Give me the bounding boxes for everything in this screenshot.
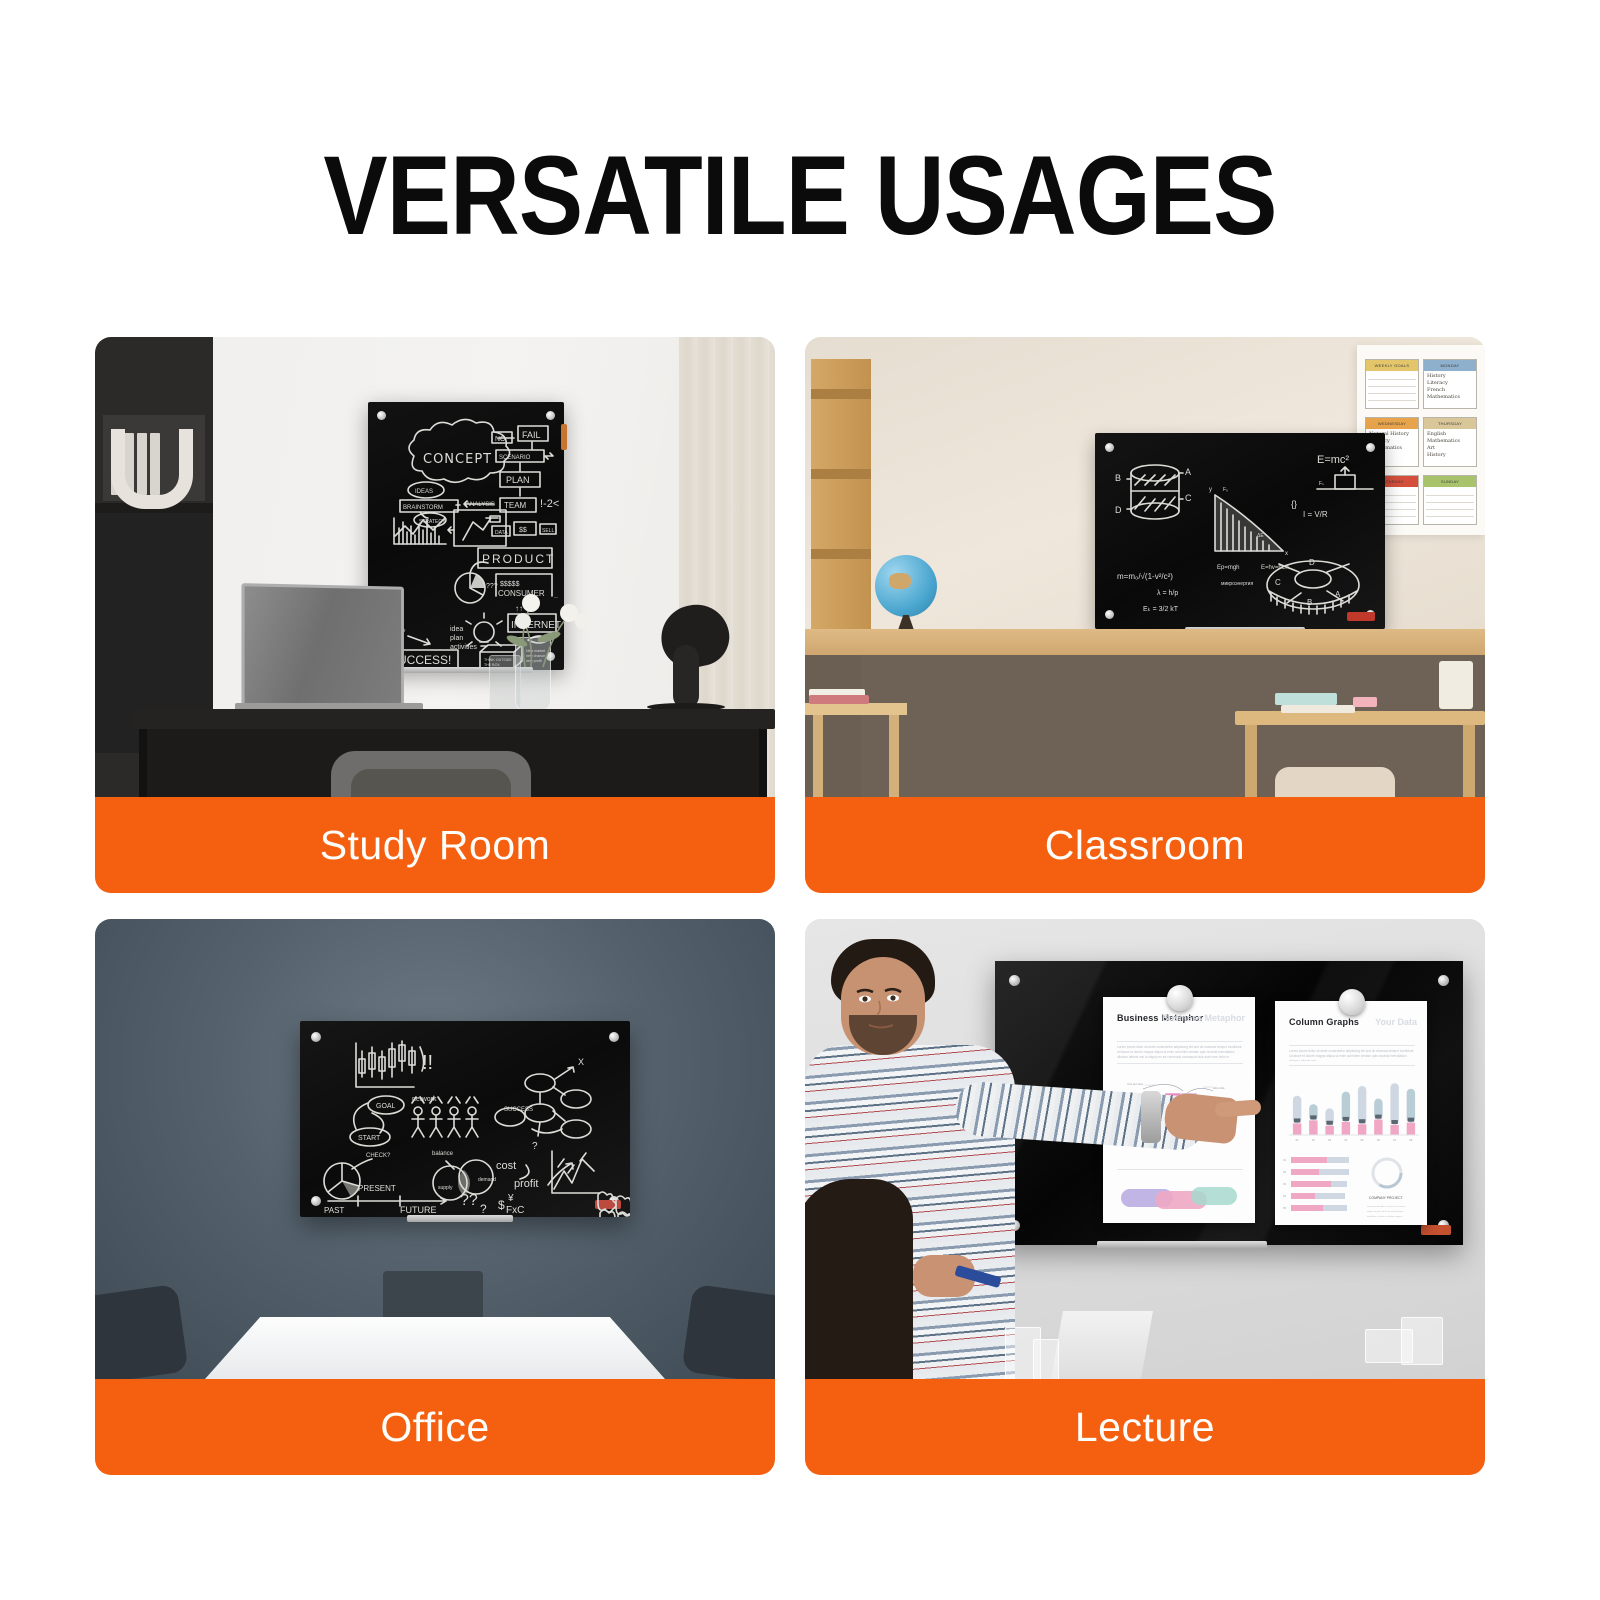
svg-text:!-2<: !-2< xyxy=(540,498,559,510)
svg-text:?: ? xyxy=(532,1141,538,1152)
desk-top xyxy=(131,709,775,729)
flowers xyxy=(465,579,615,669)
usage-banner-study-room: Study Room xyxy=(95,797,775,893)
office-chair-seat xyxy=(351,769,511,797)
svg-text:$: $ xyxy=(498,1198,505,1212)
svg-text:plan: plan xyxy=(450,635,463,642)
cabinet-door[interactable] xyxy=(981,655,1103,797)
svg-text:adipiscing elit sed do eiusmod: adipiscing elit sed do eiusmod tempor xyxy=(1367,1210,1404,1213)
column-chart: 0102030405060708 xyxy=(1275,1073,1427,1149)
planner-heading: SUNDAY xyxy=(1424,476,1476,487)
small-desk-leg xyxy=(813,715,823,797)
cabinet-door[interactable] xyxy=(1101,655,1223,797)
svg-text:03: 03 xyxy=(1328,1138,1331,1142)
office-photo: !! GOAL START network xyxy=(95,919,775,1379)
cabinet-door[interactable] xyxy=(861,655,983,797)
laptop-screen xyxy=(241,583,404,715)
svg-text:incididunt ut labore et dolore: incididunt ut labore et dolore magna. xyxy=(1367,1215,1403,1218)
svg-text:B: B xyxy=(1115,473,1121,483)
svg-text:ΔE: ΔE xyxy=(1257,533,1264,539)
small-desk-top xyxy=(805,703,907,715)
usage-card-classroom[interactable]: WEEKLY GOALS MONDAY HistoryLiteracyFrenc… xyxy=(805,337,1485,893)
svg-text:08: 08 xyxy=(1409,1138,1412,1142)
presenter-face xyxy=(843,981,933,1031)
svg-text:X: X xyxy=(578,1057,584,1067)
wristwatch xyxy=(1141,1091,1161,1143)
svg-text:$$: $$ xyxy=(519,527,527,534)
svg-text:Eₖ = 3/2 kT: Eₖ = 3/2 kT xyxy=(1143,606,1179,613)
svg-text:GOAL: GOAL xyxy=(376,1103,396,1110)
small-desk-leg xyxy=(889,715,899,797)
sheet-body-text: Lorem ipsum dolor sit amet consectetur a… xyxy=(1117,1045,1243,1059)
planner-heading: MONDAY xyxy=(1424,360,1476,371)
infographic-sheet-column-graphs[interactable]: Column Graphs Your Data Lorem ipsum dolo… xyxy=(1275,1001,1427,1225)
svg-text:микроэнергия: микроэнергия xyxy=(1221,581,1253,587)
conference-chair-right xyxy=(681,1284,775,1379)
usage-card-study-room[interactable]: CONCEPT NO FAIL SCENARIO PLAN TEAM !-2< … xyxy=(95,337,775,893)
svg-text:x: x xyxy=(1285,551,1288,557)
sheet-body-text: Lorem ipsum dolor sit amet consectetur a… xyxy=(1289,1049,1415,1061)
svg-text:FUTURE: FUTURE xyxy=(400,1205,437,1215)
usage-label: Study Room xyxy=(320,822,551,869)
svg-text:A: A xyxy=(1335,590,1341,599)
sheet-title: Column Graphs xyxy=(1289,1017,1359,1028)
sheet-footer-bars xyxy=(1103,1177,1255,1221)
conference-table xyxy=(205,1317,665,1379)
svg-text:07: 07 xyxy=(1393,1138,1396,1142)
student-chair xyxy=(1275,767,1395,797)
planner-lines xyxy=(1368,373,1416,406)
svg-text:CONCEPT: CONCEPT xyxy=(423,452,492,467)
svg-text:01: 01 xyxy=(1283,1158,1286,1162)
board-sketch: A B C D y x F₀ ΔE Ep=mgh E=hv=hc/λ xyxy=(1095,433,1385,629)
drinking-glass xyxy=(1033,1339,1059,1379)
svg-text:supply: supply xyxy=(438,1185,453,1191)
svg-text:ANALYSIS: ANALYSIS xyxy=(466,502,495,508)
mount-stud-icon xyxy=(1438,975,1449,986)
marker-tray xyxy=(407,1215,513,1222)
svg-text:?: ? xyxy=(480,1202,487,1216)
round-magnet-icon[interactable] xyxy=(1167,985,1193,1011)
student-desk-leg xyxy=(1463,725,1475,797)
svg-text:04: 04 xyxy=(1283,1194,1286,1198)
planner-heading: WEEKLY GOALS xyxy=(1366,360,1418,371)
laptop xyxy=(1051,1311,1153,1379)
svg-text:m=m₀/√(1-v²/c²): m=m₀/√(1-v²/c²) xyxy=(1117,572,1173,581)
svg-text:demand: demand xyxy=(478,1177,496,1183)
sideboard-top xyxy=(805,629,1485,655)
seated-listener-hair xyxy=(805,1179,913,1379)
pointing-finger xyxy=(1215,1099,1262,1117)
svg-text:λ = h/p: λ = h/p xyxy=(1157,590,1178,597)
svg-text:Lorem ipsum dolor sit amet con: Lorem ipsum dolor sit amet consectetur xyxy=(1367,1205,1406,1208)
notebook xyxy=(1281,705,1355,713)
svg-text:START: START xyxy=(358,1135,381,1142)
svg-text:Fₙ: Fₙ xyxy=(1319,481,1324,487)
board-sketch: !! GOAL START network xyxy=(300,1021,630,1217)
svg-text:D: D xyxy=(1115,505,1122,515)
sheet-ghost-title: Your Data xyxy=(1375,1017,1417,1028)
planner-entries: EnglishMathematicsArtHistory xyxy=(1427,431,1474,459)
svg-text:C: C xyxy=(1185,493,1192,503)
svg-text:02: 02 xyxy=(1312,1138,1315,1142)
svg-text:F₀: F₀ xyxy=(1223,487,1228,493)
lecture-photo: Business Metaphor Business Metaphor Lore… xyxy=(805,919,1485,1379)
glass-whiteboard-landscape[interactable]: !! GOAL START network xyxy=(300,1021,630,1217)
svg-text:y: y xyxy=(1209,487,1212,493)
study-room-photo: CONCEPT NO FAIL SCENARIO PLAN TEAM !-2< … xyxy=(95,337,775,797)
svg-text:05: 05 xyxy=(1283,1206,1286,1210)
usage-banner-office: Office xyxy=(95,1379,775,1475)
svg-text:idea: idea xyxy=(450,626,463,633)
svg-text:NO: NO xyxy=(495,436,506,443)
conference-chair-center xyxy=(383,1271,483,1323)
svg-text:E=mc²: E=mc² xyxy=(1317,454,1349,466)
svg-text:??: ?? xyxy=(460,1192,478,1209)
notebook xyxy=(1275,693,1337,705)
classroom-photo: WEEKLY GOALS MONDAY HistoryLiteracyFrenc… xyxy=(805,337,1485,797)
board-accent-clip xyxy=(1421,1225,1451,1235)
round-magnet-icon[interactable] xyxy=(1339,989,1365,1015)
student-desk-leg xyxy=(1245,725,1257,797)
usage-card-lecture[interactable]: Business Metaphor Business Metaphor Lore… xyxy=(805,919,1485,1475)
usage-card-office[interactable]: !! GOAL START network xyxy=(95,919,775,1475)
marker-tray xyxy=(1097,1241,1267,1249)
svg-text:PAST: PAST xyxy=(324,1206,344,1215)
notebook xyxy=(809,695,869,704)
svg-text:PRESENT: PRESENT xyxy=(358,1184,396,1193)
svg-text:02: 02 xyxy=(1283,1170,1286,1174)
presenter-hand xyxy=(1163,1091,1239,1144)
usage-label: Office xyxy=(380,1404,489,1451)
glass-whiteboard-landscape[interactable]: A B C D y x F₀ ΔE Ep=mgh E=hv=hc/λ xyxy=(1095,433,1385,629)
svg-text:SCENARIO: SCENARIO xyxy=(499,455,531,461)
svg-text:04: 04 xyxy=(1344,1138,1347,1142)
usage-banner-classroom: Classroom xyxy=(805,797,1485,893)
svg-text:PRODUCT: PRODUCT xyxy=(482,552,555,566)
svg-text:CHECK?: CHECK? xyxy=(366,1153,391,1159)
svg-text:SELL: SELL xyxy=(542,528,554,534)
svg-text:TEAM: TEAM xyxy=(504,501,527,510)
desk-leg xyxy=(759,729,767,797)
svg-text:A: A xyxy=(1185,467,1191,477)
eraser xyxy=(1353,697,1377,707)
svg-text:¥: ¥ xyxy=(507,1193,514,1204)
usage-banner-lecture: Lecture xyxy=(805,1379,1485,1475)
paper-roll xyxy=(1439,661,1473,709)
sheet-horizontal-bars: 0102030405 COMPANY PROJECT Lorem ipsum d… xyxy=(1275,1151,1427,1221)
svg-text:Add a title: Add a title xyxy=(1213,1086,1225,1090)
planner-lines xyxy=(1426,489,1474,522)
svg-text:Your text here: Your text here xyxy=(1127,1082,1144,1086)
svg-text:05: 05 xyxy=(1361,1138,1364,1142)
svg-text:IDEAS: IDEAS xyxy=(415,489,433,495)
svg-text:06: 06 xyxy=(1377,1138,1380,1142)
svg-text:profit: profit xyxy=(514,1178,538,1190)
svg-text:01: 01 xyxy=(1296,1138,1299,1142)
usage-label: Classroom xyxy=(1045,822,1245,869)
mount-stud-icon xyxy=(1009,975,1020,986)
svg-text:FAIL: FAIL xyxy=(522,430,541,440)
svg-text:PLAN: PLAN xyxy=(506,475,530,485)
svg-text:cost: cost xyxy=(496,1160,516,1172)
svg-text:balance: balance xyxy=(432,1151,454,1157)
planner-entries: HistoryLiteracyFrenchMathematics xyxy=(1427,373,1474,401)
svg-text:I = V/R: I = V/R xyxy=(1303,510,1328,519)
planner-heading: WEDNESDAY xyxy=(1366,418,1418,429)
conference-chair-left xyxy=(95,1284,189,1379)
usage-label: Lecture xyxy=(1075,1404,1215,1451)
desk-leg xyxy=(139,729,147,797)
svg-text:{}: {} xyxy=(1291,499,1297,509)
svg-text:Ep=mgh: Ep=mgh xyxy=(1217,565,1240,571)
svg-text:BRAINSTORM: BRAINSTORM xyxy=(403,505,443,511)
usage-card-grid: CONCEPT NO FAIL SCENARIO PLAN TEAM !-2< … xyxy=(95,337,1485,1475)
svg-text:C: C xyxy=(1275,578,1281,587)
planner-heading: THURSDAY xyxy=(1424,418,1476,429)
chart-caption: COMPANY PROJECT xyxy=(1369,1196,1403,1200)
glass-object xyxy=(1401,1317,1443,1365)
u-sculpture xyxy=(111,429,193,509)
svg-text:03: 03 xyxy=(1283,1182,1286,1186)
desk-lamp-stem xyxy=(673,645,699,709)
svg-text:DATA: DATA xyxy=(495,530,508,536)
page-title: VERSATILE USAGES xyxy=(112,140,1488,252)
globe-landmass xyxy=(889,573,911,589)
sheet-ghost-title: Business Metaphor xyxy=(1162,1013,1245,1024)
svg-text:D: D xyxy=(1309,558,1315,567)
student-desk-top xyxy=(1235,711,1485,725)
